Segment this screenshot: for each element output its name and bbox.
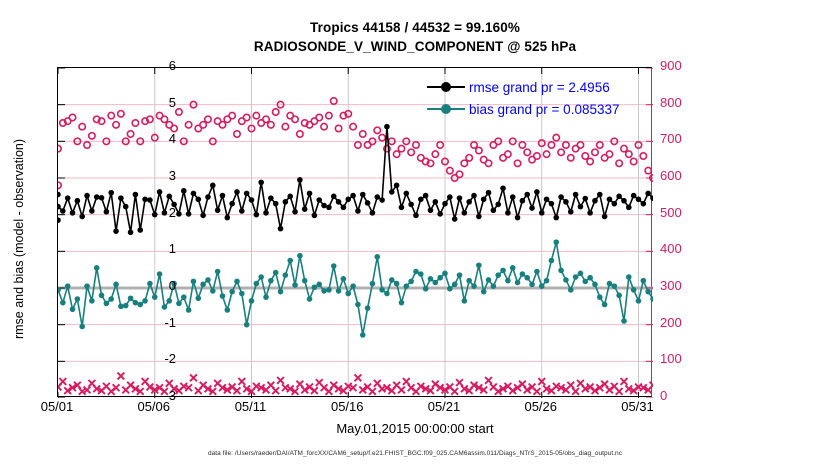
- legend-item-bias[interactable]: bias grand pr = 0.085337: [427, 100, 620, 118]
- x-tick-05-01: 05/01: [41, 399, 74, 414]
- x-tick-05-06: 05/06: [137, 399, 170, 414]
- y-left-tick--1: -1: [136, 315, 176, 330]
- y-left-tick-3: 3: [136, 168, 176, 183]
- legend-item-rmse[interactable]: rmse grand pr = 2.4956: [427, 78, 620, 96]
- y-right-tick-700: 700: [660, 131, 706, 146]
- y-right-tick-800: 800: [660, 95, 706, 110]
- title-line-2: RADIOSONDE_V_WIND_COMPONENT @ 525 hPa: [0, 37, 830, 56]
- y-axis-left-label: rmse and bias (model - observation): [12, 74, 26, 404]
- y-right-tick-400: 400: [660, 241, 706, 256]
- y-right-tick-300: 300: [660, 278, 706, 293]
- x-tick-05-21: 05/21: [428, 399, 461, 414]
- y-right-tick-100: 100: [660, 351, 706, 366]
- y-right-tick-900: 900: [660, 58, 706, 73]
- chart-legend: rmse grand pr = 2.4956 bias grand pr = 0…: [427, 78, 620, 118]
- y-left-tick-4: 4: [136, 131, 176, 146]
- data-file-note: data file: /Users/raeder/DAI/ATM_forcXX/…: [0, 450, 830, 457]
- y-left-tick-2: 2: [136, 205, 176, 220]
- x-tick-05-31: 05/31: [621, 399, 654, 414]
- y-left-tick-1: 1: [136, 241, 176, 256]
- chart-figure: Tropics 44158 / 44532 = 99.160% RADIOSON…: [0, 0, 830, 470]
- y-left-tick-5: 5: [136, 95, 176, 110]
- y-right-tick-200: 200: [660, 315, 706, 330]
- bias-line-marker-icon: [427, 102, 465, 116]
- legend-label-bias: bias grand pr = 0.085337: [469, 102, 620, 117]
- y-right-tick-600: 600: [660, 168, 706, 183]
- title-line-1: Tropics 44158 / 44532 = 99.160%: [0, 18, 830, 37]
- rmse-line-marker-icon: [427, 80, 465, 94]
- x-tick-05-11: 05/11: [235, 399, 267, 414]
- legend-label-rmse: rmse grand pr = 2.4956: [469, 80, 610, 95]
- x-tick-05-26: 05/26: [524, 399, 557, 414]
- y-left-tick-0: 0: [136, 278, 176, 293]
- y-left-tick-6: 6: [136, 58, 176, 73]
- x-axis-label: May.01,2015 00:00:00 start: [0, 421, 830, 436]
- y-left-tick--2: -2: [136, 351, 176, 366]
- chart-title: Tropics 44158 / 44532 = 99.160% RADIOSON…: [0, 18, 830, 56]
- x-tick-05-16: 05/16: [331, 399, 364, 414]
- y-right-tick-0: 0: [660, 388, 706, 403]
- y-right-tick-500: 500: [660, 205, 706, 220]
